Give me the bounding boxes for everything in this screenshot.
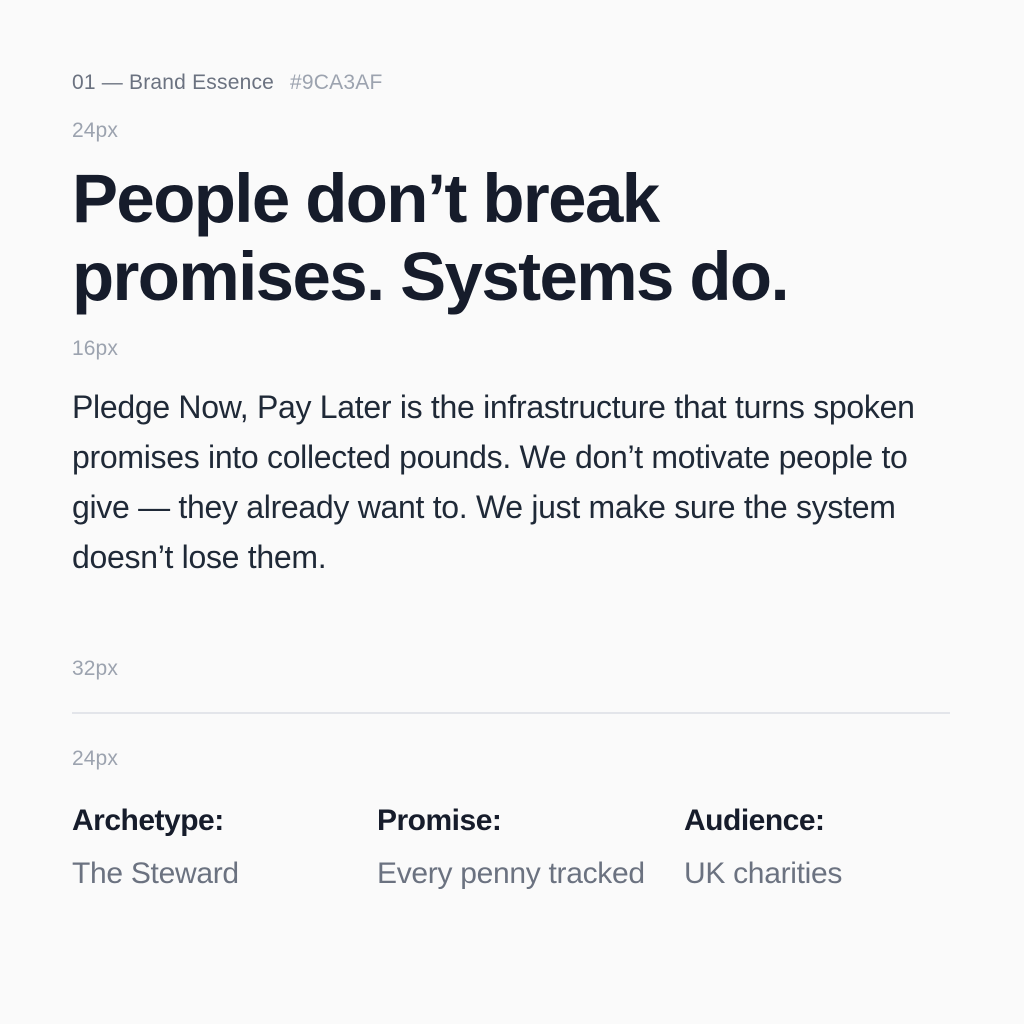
attribute-promise: Promise: Every penny tracked — [377, 800, 684, 898]
spec-label-attributes-spacing: 24px — [72, 748, 118, 769]
meta-row: 01 — Brand Essence #9CA3AF — [72, 72, 383, 93]
attribute-value: UK charities — [684, 850, 938, 898]
attribute-label: Promise: — [377, 800, 660, 842]
attribute-archetype: Archetype: The Steward — [72, 800, 377, 898]
spec-label-title-spacing: 24px — [72, 120, 118, 141]
attribute-label: Archetype: — [72, 800, 353, 842]
attribute-value: Every penny tracked — [377, 850, 660, 898]
attribute-audience: Audience: UK charities — [684, 800, 962, 898]
page-title: People don’t break promises. Systems do. — [72, 160, 952, 316]
spec-label-divider-spacing: 32px — [72, 658, 118, 679]
attribute-label: Audience: — [684, 800, 938, 842]
attributes-grid: Archetype: The Steward Promise: Every pe… — [72, 800, 962, 898]
section-title: 01 — Brand Essence — [72, 72, 274, 93]
brand-essence-slide: 01 — Brand Essence #9CA3AF 24px People d… — [0, 0, 1024, 1024]
body-paragraph: Pledge Now, Pay Later is the infrastruct… — [72, 382, 956, 582]
section-divider — [72, 712, 950, 714]
hex-color-swatch-label: #9CA3AF — [290, 72, 382, 93]
spec-label-body-spacing: 16px — [72, 338, 118, 359]
attribute-value: The Steward — [72, 850, 353, 898]
